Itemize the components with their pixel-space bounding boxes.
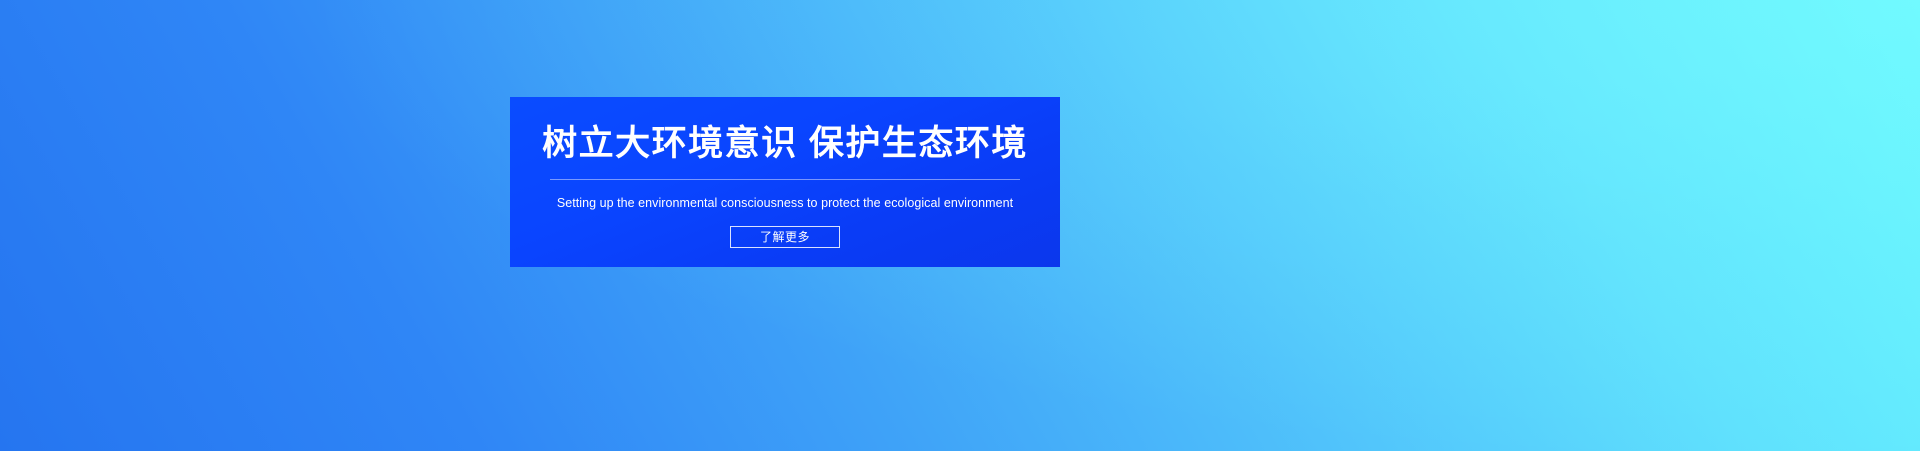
learn-more-button[interactable]: 了解更多: [730, 226, 840, 248]
banner-content-panel: 树立大环境意识 保护生态环境 Setting up the environmen…: [510, 97, 1060, 267]
banner-title: 树立大环境意识 保护生态环境: [542, 126, 1028, 163]
banner-hero: 树立大环境意识 保护生态环境 Setting up the environmen…: [0, 0, 1920, 451]
title-divider: [550, 179, 1020, 180]
banner-subtitle: Setting up the environmental consciousne…: [557, 196, 1013, 211]
